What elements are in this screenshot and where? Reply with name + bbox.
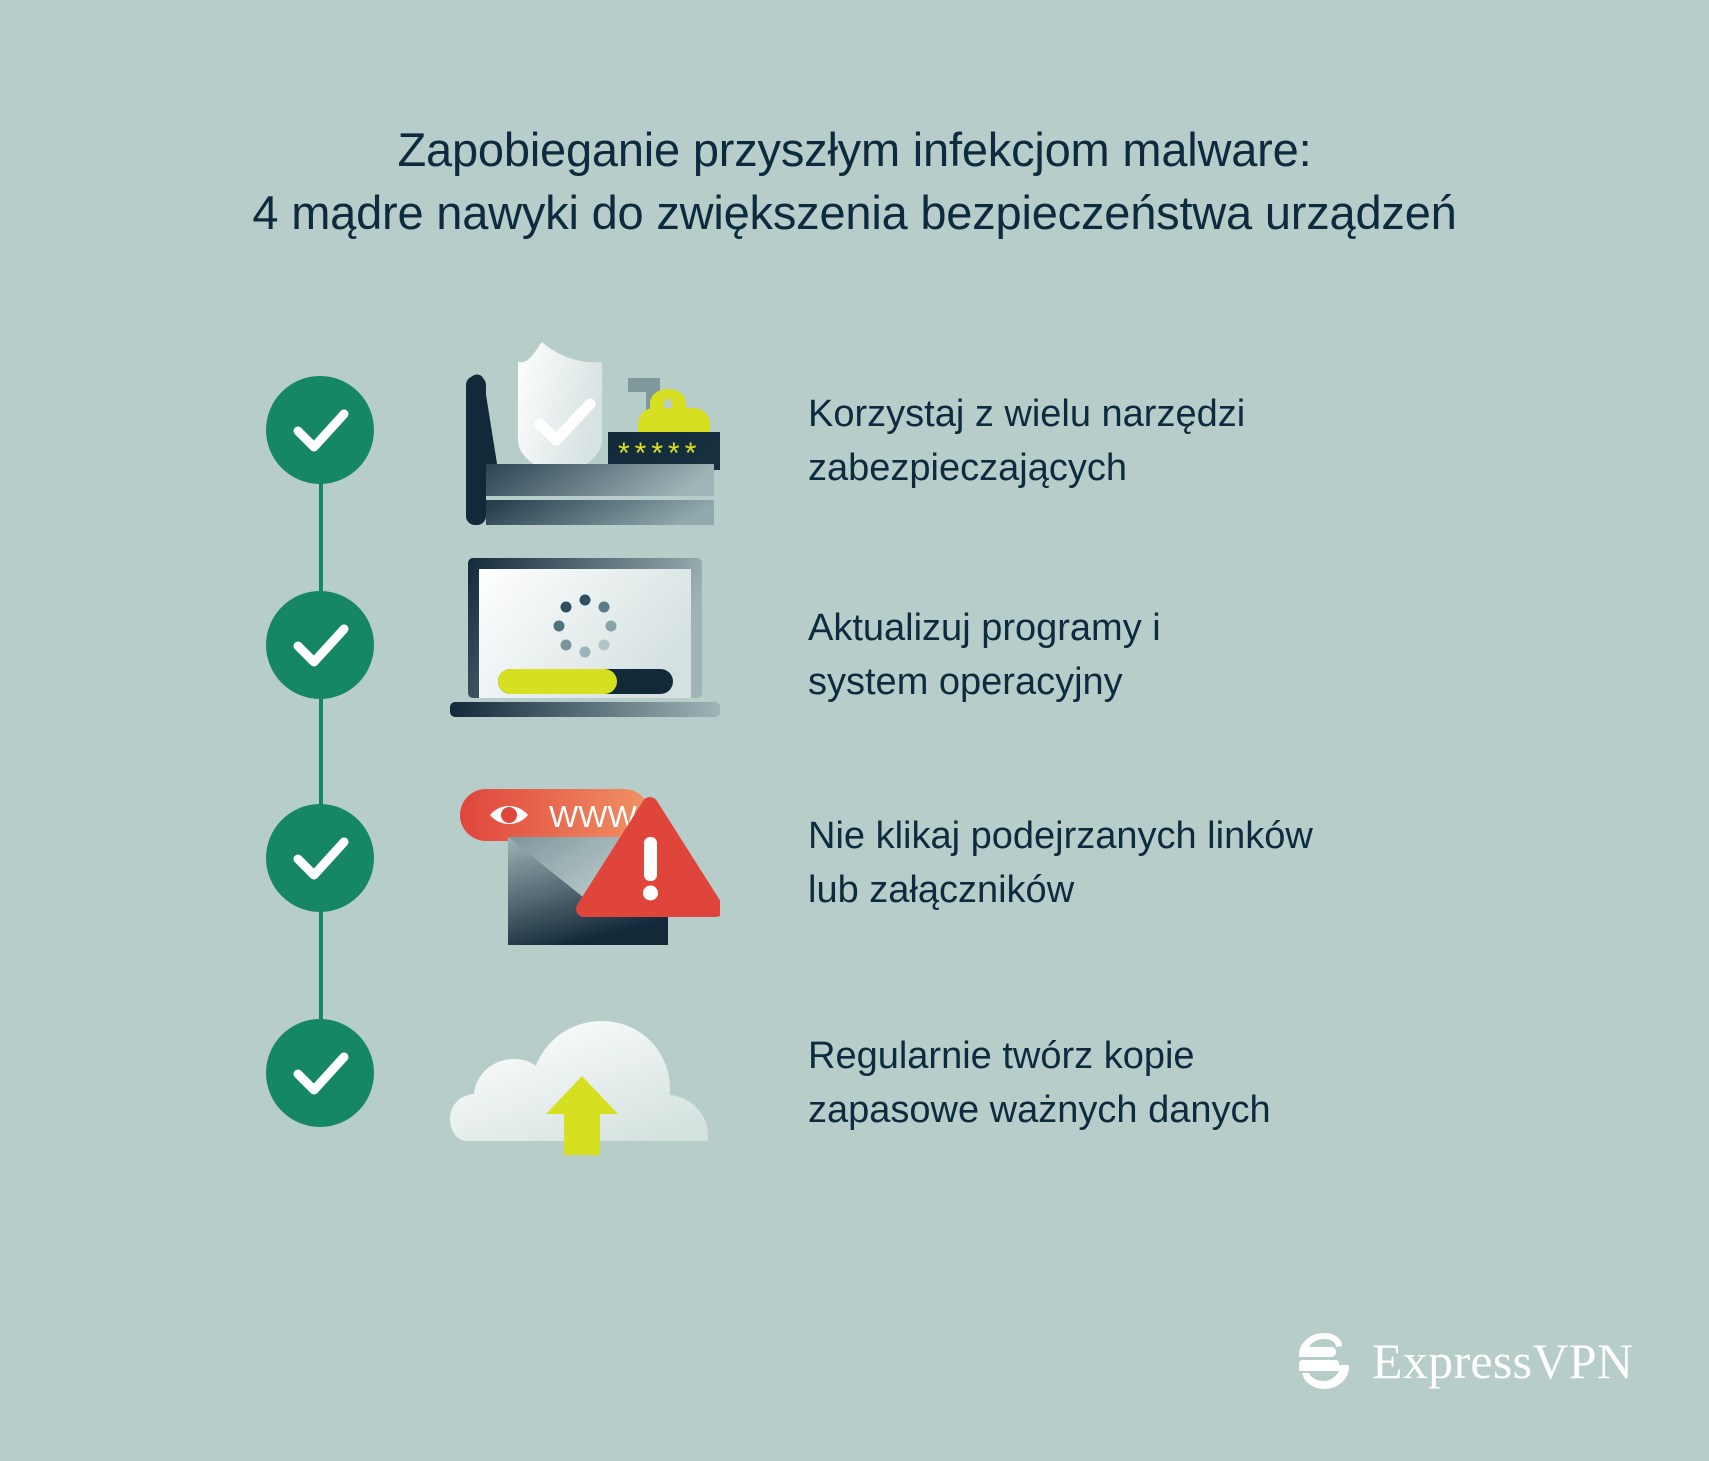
checklist-text-1: Korzystaj z wielu narzędzi zabezpieczają… — [808, 388, 1245, 496]
cloud-illustration — [450, 995, 720, 1160]
checklist-text-2-line-1: Aktualizuj programy i — [808, 602, 1161, 656]
expressvpn-wordmark: ExpressVPN — [1372, 1336, 1633, 1386]
laptop-update-icon — [450, 552, 750, 742]
title-line-2: 4 mądre nawyki do zwiększenia bezpieczeń… — [0, 182, 1709, 244]
expressvpn-logo: ExpressVPN — [1293, 1330, 1633, 1392]
expressvpn-logo-mark — [1293, 1330, 1355, 1392]
checklist-text-4-line-2: zapasowe ważnych danych — [808, 1084, 1271, 1138]
toolbox-security-icon: ***** — [450, 320, 750, 530]
infographic-canvas: Zapobieganie przyszłym infekcjom malware… — [0, 0, 1709, 1461]
checklist-row-1: ***** Korzystaj z wielu narzędzi zabezpi… — [0, 320, 1709, 530]
laptop-illustration — [450, 552, 720, 732]
phishing-illustration: WWW — [450, 775, 720, 945]
checklist-row-3: WWW Nie klikaj podejrzanych linków lub z… — [0, 775, 1709, 950]
checklist-text-2: Aktualizuj programy i system operacyjny — [808, 602, 1161, 710]
url-pill: WWW — [460, 789, 650, 841]
page-title: Zapobieganie przyszłym infekcjom malware… — [0, 119, 1709, 243]
checklist-text-3: Nie klikaj podejrzanych linków lub załąc… — [808, 810, 1313, 918]
cloud-backup-icon — [450, 995, 750, 1170]
checklist-row-2: Aktualizuj programy i system operacyjny — [0, 552, 1709, 742]
url-pill-label: WWW — [549, 799, 638, 834]
checklist-text-1-line-1: Korzystaj z wielu narzędzi — [808, 388, 1245, 442]
checklist-text-4-line-1: Regularnie twórz kopie — [808, 1030, 1271, 1084]
checklist-row-4: Regularnie twórz kopie zapasowe ważnych … — [0, 995, 1709, 1170]
progress-bar — [498, 669, 673, 694]
suspicious-link-email-icon: WWW — [450, 775, 750, 950]
checklist-text-2-line-2: system operacyjny — [808, 656, 1161, 710]
checklist-text-3-line-1: Nie klikaj podejrzanych linków — [808, 810, 1313, 864]
checklist-text-3-line-2: lub załączników — [808, 864, 1313, 918]
checklist-text-1-line-2: zabezpieczających — [808, 442, 1245, 496]
checklist-text-4: Regularnie twórz kopie zapasowe ważnych … — [808, 1030, 1271, 1138]
title-line-1: Zapobieganie przyszłym infekcjom malware… — [0, 119, 1709, 181]
shield-check-icon — [518, 342, 602, 478]
toolbox-illustration: ***** — [450, 320, 720, 525]
